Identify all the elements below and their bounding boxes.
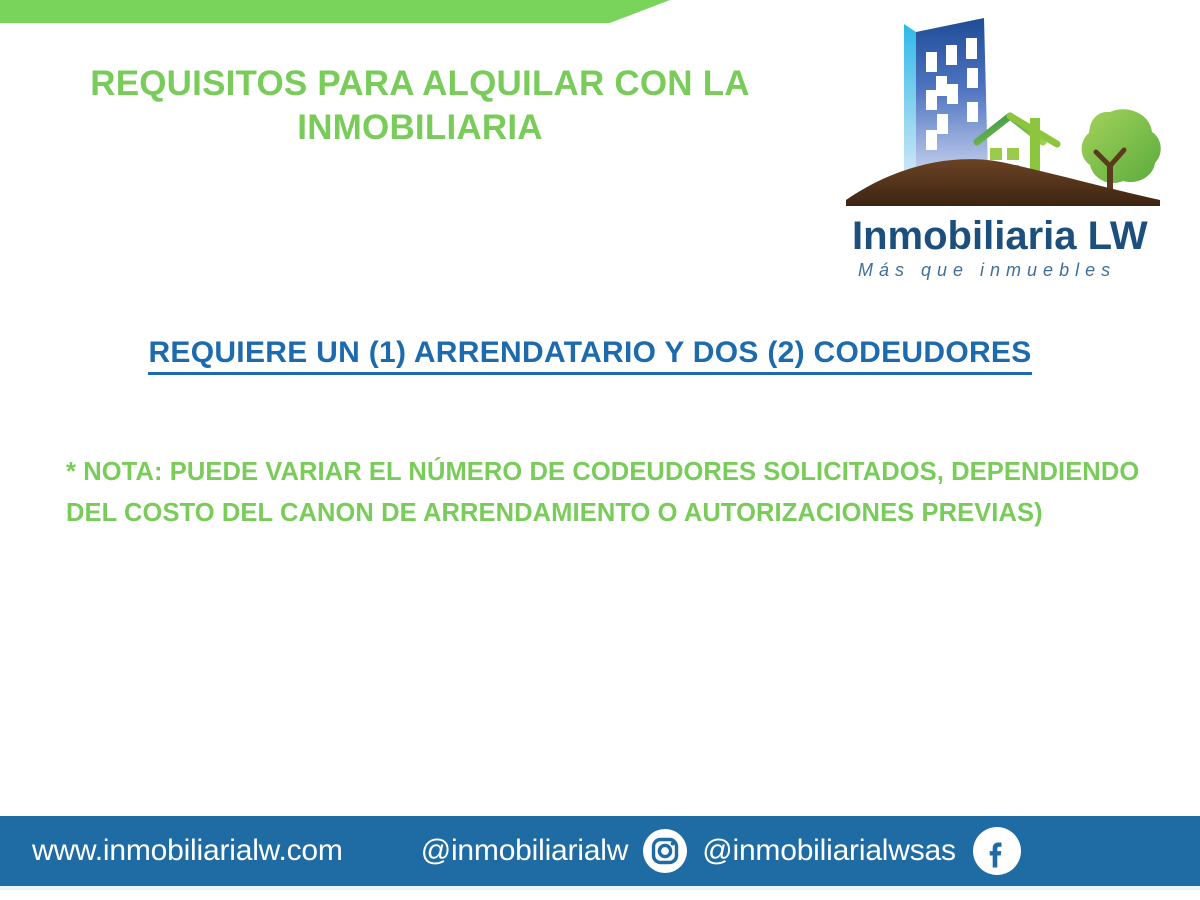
flyer-slide: REQUISITOS PARA ALQUILAR CON LA INMOBILI… [0,0,1200,900]
green-accent-bar [0,0,670,23]
company-logo: Inmobiliaria LW Más que inmuebles [838,14,1168,282]
requirement-text: REQUIERE UN (1) ARRENDATARIO Y DOS (2) C… [148,336,1031,375]
instagram-icon[interactable] [642,828,688,874]
note-text: * NOTA: PUEDE VARIAR EL NÚMERO DE CODEUD… [66,452,1151,535]
footer-underline-strip [0,886,1200,890]
instagram-handle[interactable]: @inmobiliarialw [421,834,629,868]
logo-tagline: Más que inmuebles [858,260,1116,280]
page-title: REQUISITOS PARA ALQUILAR CON LA INMOBILI… [50,62,790,150]
website-link[interactable]: www.inmobiliarialw.com [32,834,343,868]
facebook-handle[interactable]: @inmobiliarialwsas [702,834,956,868]
building-icon [904,18,988,176]
footer-bar: www.inmobiliarialw.com @inmobiliarialw @… [0,816,1200,886]
facebook-icon[interactable] [972,826,1022,876]
footer-content: www.inmobiliarialw.com @inmobiliarialw @… [0,826,1200,876]
requirement-statement: REQUIERE UN (1) ARRENDATARIO Y DOS (2) C… [0,336,1180,370]
logo-brand-name: Inmobiliaria LW [852,214,1148,258]
